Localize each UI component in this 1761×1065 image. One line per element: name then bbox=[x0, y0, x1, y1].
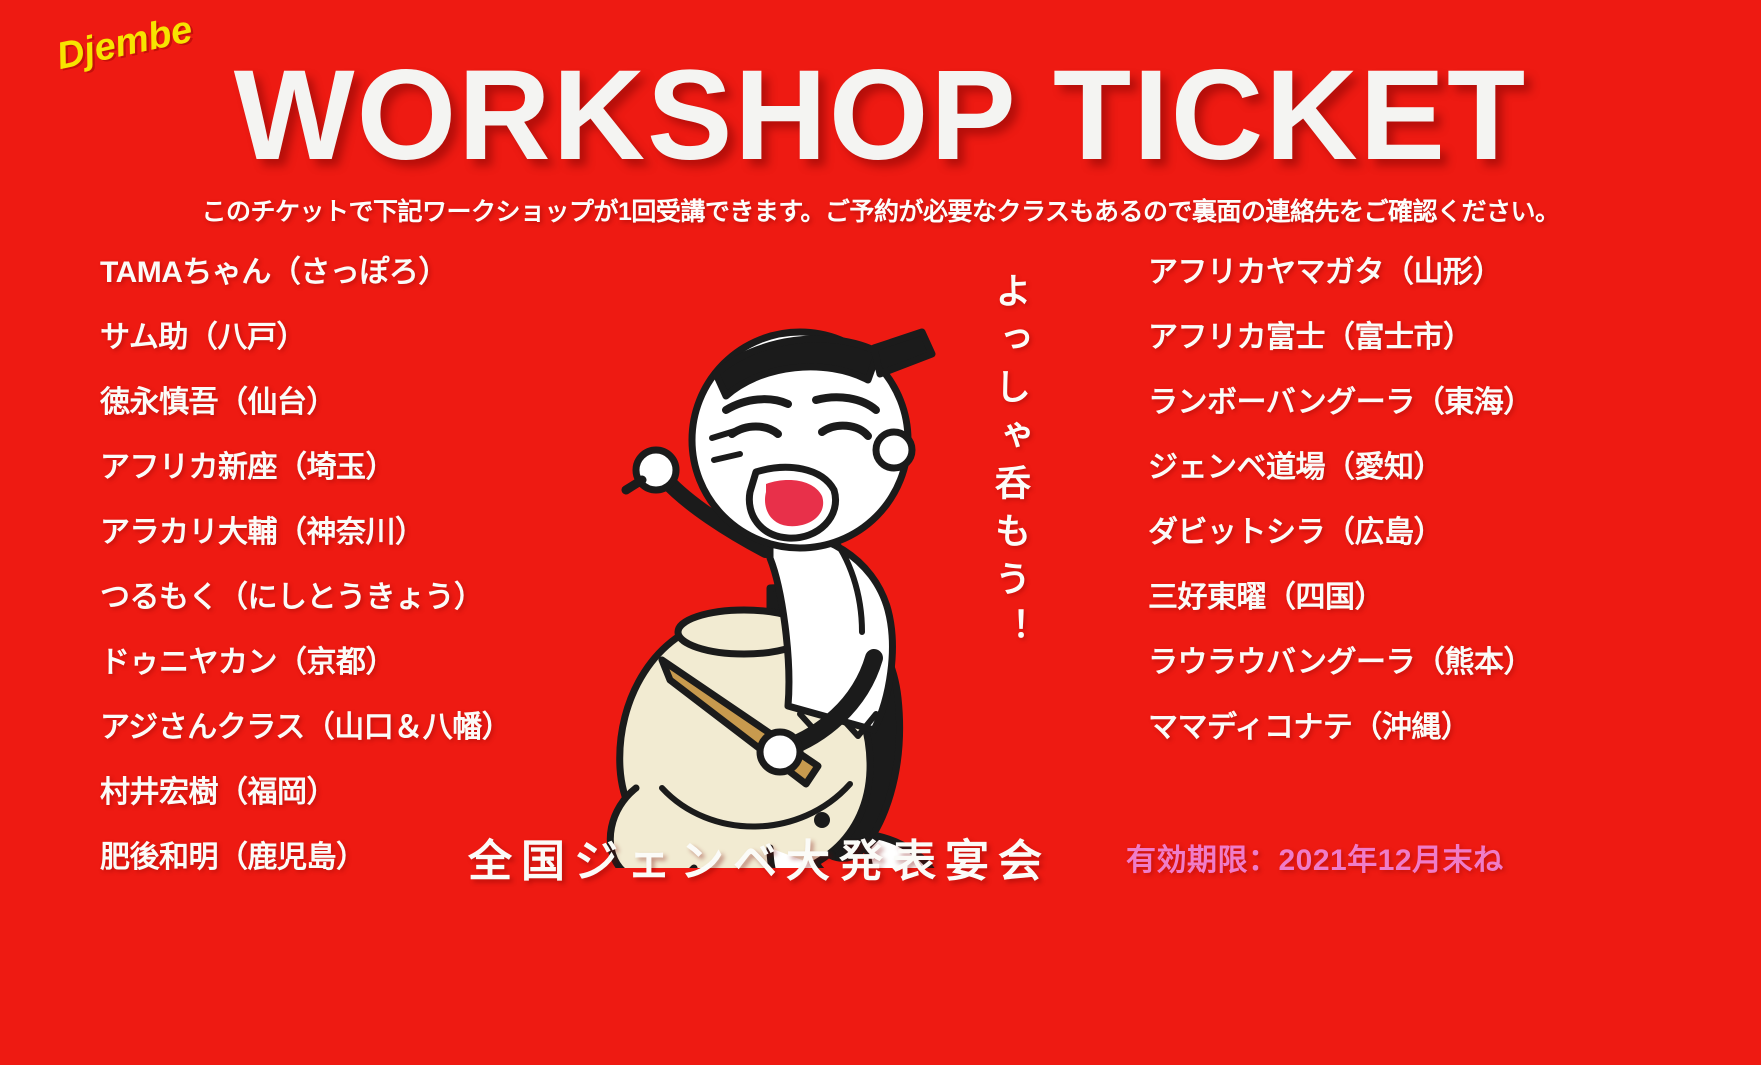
list-item: アラカリ大輔（神奈川） bbox=[100, 518, 620, 548]
list-item: アフリカヤマガタ（山形） bbox=[1148, 258, 1668, 288]
subtitle-instructions: このチケットで下記ワークショップが1回受講できます。ご予約が必要なクラスもあるの… bbox=[0, 192, 1761, 228]
page-title: WORKSHOP TICKET bbox=[0, 52, 1761, 180]
list-item: ラウラウバングーラ（熊本） bbox=[1148, 648, 1668, 678]
workshop-list-right: アフリカヤマガタ（山形） アフリカ富士（富士市） ランボーバングーラ（東海） ジ… bbox=[1148, 258, 1668, 778]
list-item: アジさんクラス（山口＆八幡） bbox=[100, 713, 620, 743]
list-item: アフリカ新座（埼玉） bbox=[100, 453, 620, 483]
event-title: 全国ジェンベ大発表宴会 bbox=[468, 825, 1051, 889]
list-item: 徳永慎吾（仙台） bbox=[100, 388, 620, 418]
list-item: ママディコナテ（沖縄） bbox=[1148, 713, 1668, 743]
list-item: ダビットシラ（広島） bbox=[1148, 518, 1668, 548]
ticket-poster: Djembe WORKSHOP TICKET このチケットで下記ワークショップが… bbox=[0, 0, 1761, 1065]
list-item: ドゥニヤカン（京都） bbox=[100, 648, 620, 678]
list-item: 三好東曜（四国） bbox=[1148, 583, 1668, 613]
list-item: ランボーバングーラ（東海） bbox=[1148, 388, 1668, 418]
list-item: TAMAちゃん（さっぽろ） bbox=[100, 258, 620, 288]
list-item: ジェンベ道場（愛知） bbox=[1148, 453, 1668, 483]
vertical-shout-text: よっしゃ呑もう！ bbox=[984, 272, 1028, 656]
list-item: サム助（八戸） bbox=[100, 323, 620, 353]
list-item: アフリカ富士（富士市） bbox=[1148, 323, 1668, 353]
workshop-list-left: TAMAちゃん（さっぽろ） サム助（八戸） 徳永慎吾（仙台） アフリカ新座（埼玉… bbox=[100, 258, 620, 908]
list-item: つるもく（にしとうきょう） bbox=[100, 583, 620, 613]
expiry-date: 有効期限：2021年12月末ね bbox=[1126, 835, 1504, 879]
list-item: 村井宏樹（福岡） bbox=[100, 778, 620, 808]
